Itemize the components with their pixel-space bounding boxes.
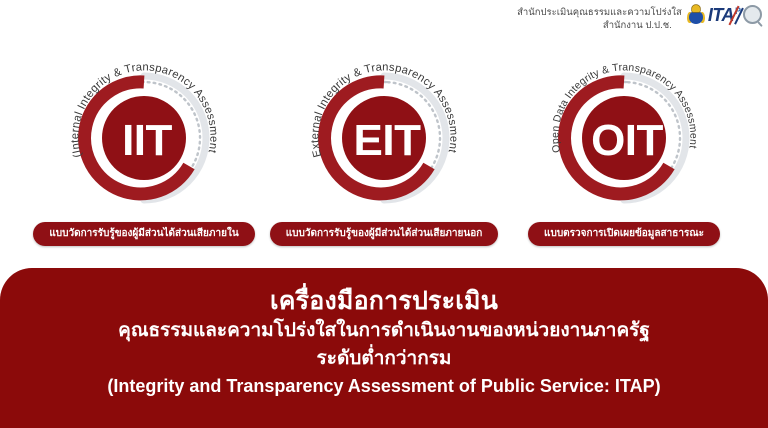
title-banner: เครื่องมือการประเมิน คุณธรรมและความโปร่ง…	[0, 268, 768, 428]
banner-subheading-thai-1: คุณธรรมและความโปร่งใสในการดำเนินงานของหน…	[0, 317, 768, 345]
badge-iit[interactable]: (Internal Integrity & Transparency Asses…	[35, 58, 253, 246]
page-header: สำนักประเมินคุณธรรมและความโปร่งใส สำนักง…	[0, 0, 768, 46]
badge-oit[interactable]: Open Data Integrity & Transparency Asses…	[515, 58, 733, 246]
badge-emblem-eit: External Integrity & Transparency Assess…	[300, 58, 468, 226]
banner-subheading-english: (Integrity and Transparency Assessment o…	[0, 372, 768, 400]
emblem-body	[689, 11, 703, 24]
organization-name-line1: สำนักประเมินคุณธรรมและความโปร่งใส	[517, 6, 682, 19]
assessment-tools-row: (Internal Integrity & Transparency Asses…	[0, 58, 768, 246]
banner-heading: เครื่องมือการประเมิน	[0, 285, 768, 317]
banner-subheading-thai-2: ระดับต่ำกว่ากรม	[0, 345, 768, 372]
magnifier-icon	[743, 5, 762, 24]
ita-logo[interactable]: ITA P	[708, 5, 768, 24]
emblem-crown	[692, 5, 700, 12]
organization-name: สำนักประเมินคุณธรรมและความโปร่งใส สำนักง…	[517, 5, 688, 32]
nacc-garuda-emblem-icon	[688, 5, 704, 27]
badge-eit[interactable]: External Integrity & Transparency Assess…	[275, 58, 493, 246]
badge-emblem-oit: Open Data Integrity & Transparency Asses…	[540, 58, 708, 226]
badge-emblem-iit: (Internal Integrity & Transparency Asses…	[60, 58, 228, 226]
ita-wordmark-text: ITA	[708, 6, 734, 24]
organization-name-line2: สำนักงาน ป.ป.ช.	[517, 19, 682, 32]
